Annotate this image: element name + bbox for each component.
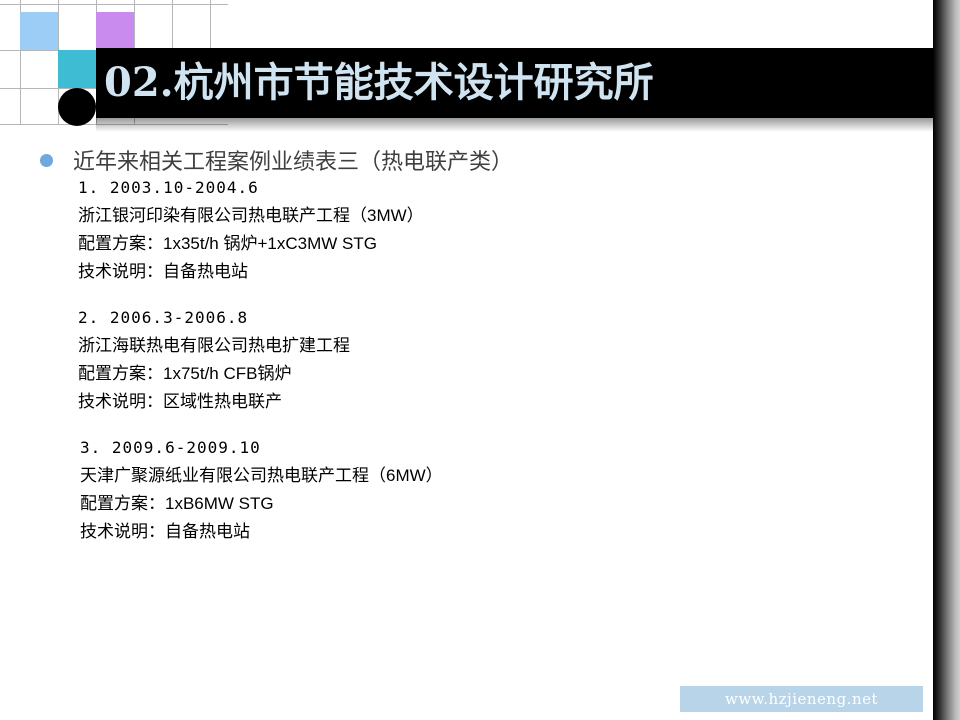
title-banner-shadow — [96, 118, 936, 132]
project-config: 配置方案：1x75t/h CFB锅炉 — [78, 360, 350, 388]
grid-line-vertical — [210, 0, 211, 50]
slide-canvas: 02.杭州市节能技术设计研究所 近年来相关工程案例业绩表三（热电联产类） 1. … — [0, 0, 960, 720]
project-entry: 3. 2009.6-2009.10 天津广聚源纸业有限公司热电联产工程（6MW）… — [74, 438, 443, 546]
project-note: 技术说明：自备热电站 — [78, 258, 424, 286]
decorative-square-purple — [96, 12, 134, 50]
project-note: 技术说明：自备热电站 — [74, 518, 443, 546]
decorative-square-blue — [20, 12, 58, 50]
bullet-dot-icon — [40, 154, 53, 167]
decorative-square-teal — [58, 50, 96, 88]
grid-line-vertical — [172, 0, 173, 50]
decorative-circle — [58, 88, 96, 126]
project-name: 浙江银河印染有限公司热电联产工程（3MW） — [78, 202, 424, 230]
project-period: 2. 2006.3-2006.8 — [78, 308, 350, 327]
footer-watermark-text: www.hzjieneng.net — [725, 690, 878, 708]
page-title: 02.杭州市节能技术设计研究所 — [104, 52, 934, 114]
project-name: 天津广聚源纸业有限公司热电联产工程（6MW） — [74, 462, 443, 490]
slide-body: 近年来相关工程案例业绩表三（热电联产类） 1. 2003.10-2004.6 浙… — [0, 140, 930, 660]
project-entry: 1. 2003.10-2004.6 浙江银河印染有限公司热电联产工程（3MW） … — [78, 178, 424, 286]
footer-watermark-band: www.hzjieneng.net — [680, 686, 923, 712]
bullet-heading-label: 近年来相关工程案例业绩表三（热电联产类） — [73, 144, 513, 176]
project-config: 配置方案：1x35t/h 锅炉+1xC3MW STG — [78, 230, 424, 258]
project-period: 1. 2003.10-2004.6 — [78, 178, 424, 197]
project-entry: 2. 2006.3-2006.8 浙江海联热电有限公司热电扩建工程 配置方案：1… — [78, 308, 350, 416]
project-config: 配置方案：1xB6MW STG — [74, 490, 443, 518]
project-name: 浙江海联热电有限公司热电扩建工程 — [78, 332, 350, 360]
right-edge-gradient — [933, 0, 960, 720]
project-note: 技术说明：区域性热电联产 — [78, 388, 350, 416]
project-period: 3. 2009.6-2009.10 — [74, 438, 443, 457]
grid-line-horizontal — [0, 4, 228, 5]
bullet-heading-row: 近年来相关工程案例业绩表三（热电联产类） — [40, 144, 513, 176]
